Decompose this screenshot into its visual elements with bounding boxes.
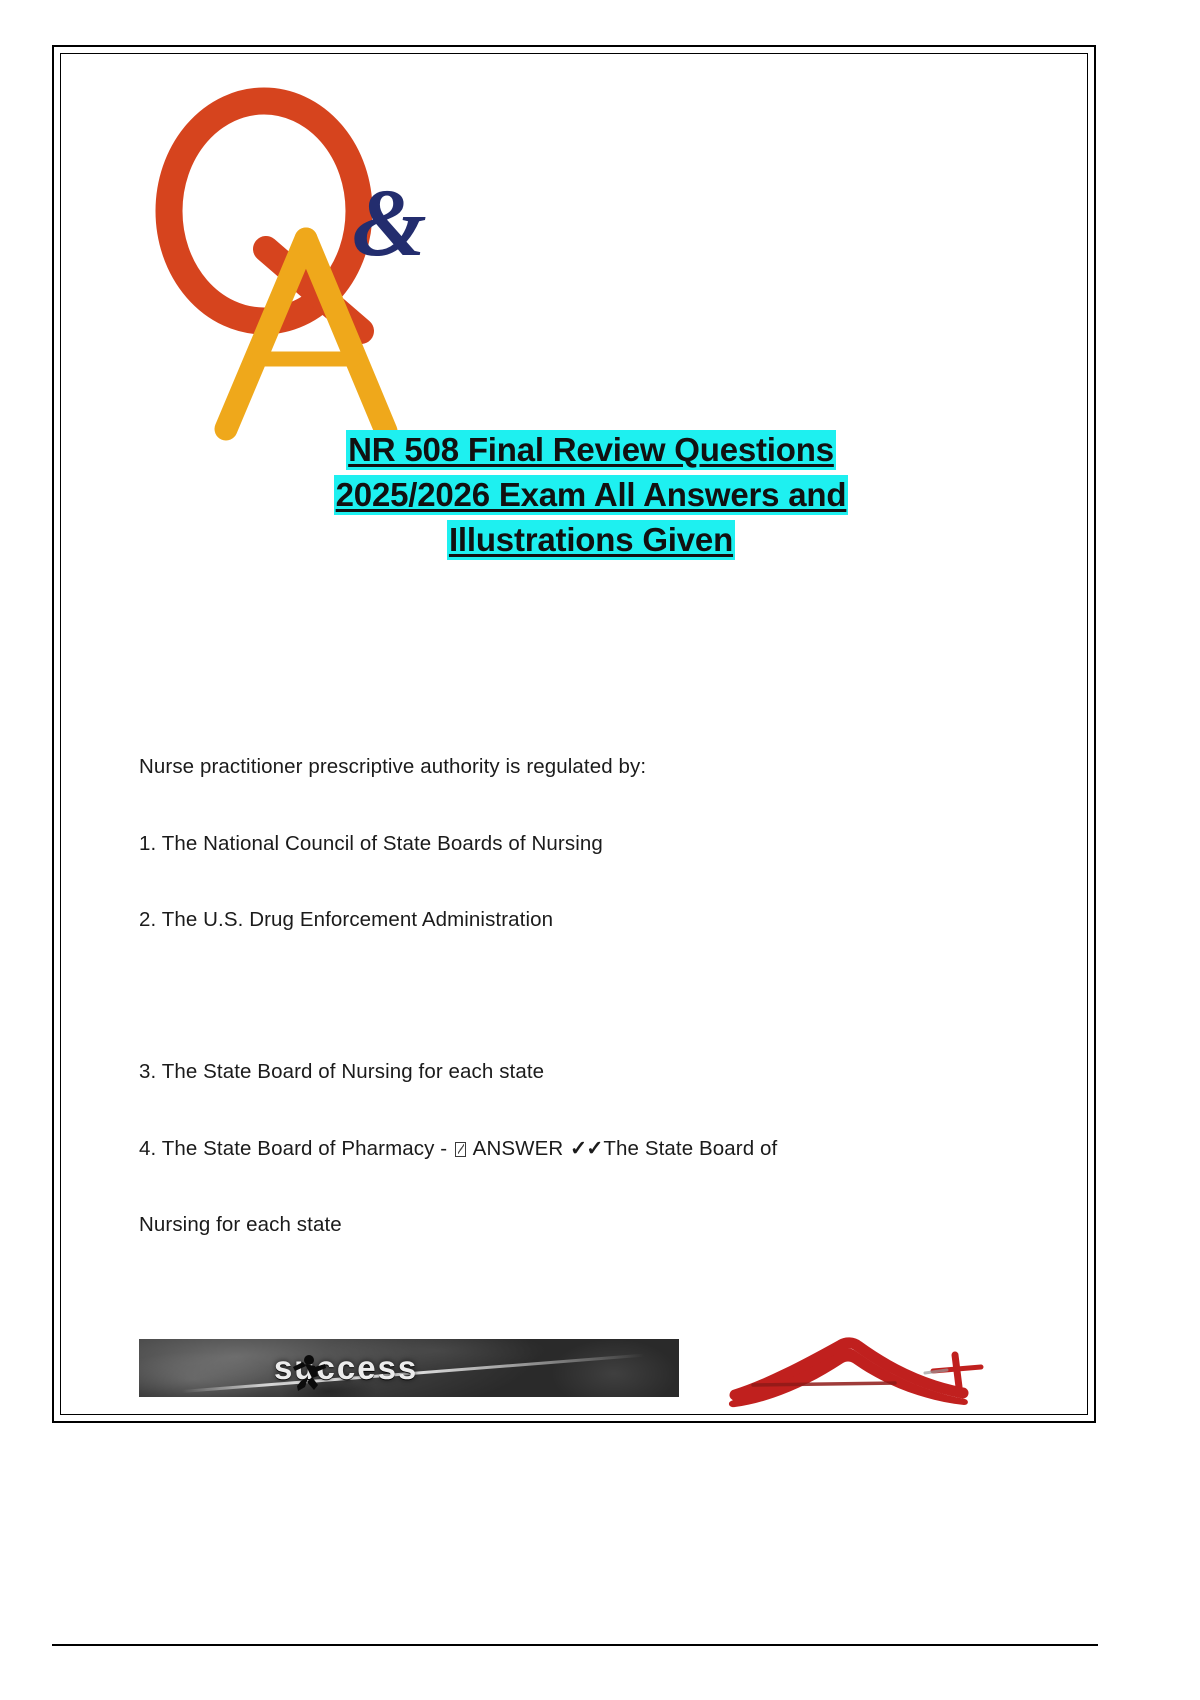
question-body: Nurse practitioner prescriptive authorit… [139, 754, 1019, 1238]
answer-option-4-prefix: 4. The State Board of Pharmacy - [139, 1137, 453, 1160]
answer-text-wrapped: Nursing for each state [139, 1212, 1019, 1238]
q-and-a-logo: & [146, 69, 476, 449]
answer-option-3: 3. The State Board of Nursing for each s… [139, 1059, 1019, 1085]
answer-option-1: 1. The National Council of State Boards … [139, 831, 1019, 857]
answer-option-2: 2. The U.S. Drug Enforcement Administrat… [139, 907, 1019, 933]
document-page-inner-border: & NR 508 Final Review Questions 2025/202… [60, 53, 1088, 1415]
missing-glyph-box-icon [455, 1142, 466, 1157]
svg-text:&: & [352, 169, 427, 276]
document-page: & NR 508 Final Review Questions 2025/202… [52, 45, 1096, 1423]
title-line-2-text: 2025/2026 Exam All Answers and [334, 475, 849, 515]
question-prompt: Nurse practitioner prescriptive authorit… [139, 754, 1019, 780]
footer-images: success [139, 1339, 1019, 1409]
answer-option-4-with-answer: 4. The State Board of Pharmacy - ANSWER … [139, 1136, 1019, 1162]
title-line-3-text: Illustrations Given [447, 520, 735, 560]
success-banner-image: success [139, 1339, 679, 1397]
page-bottom-edge [52, 1644, 1098, 1646]
answer-label: ANSWER [468, 1137, 569, 1160]
title-line-2: 2025/2026 Exam All Answers and [181, 474, 1001, 517]
title-line-1: NR 508 Final Review Questions [181, 429, 1001, 472]
red-a-brushstroke-icon [729, 1343, 968, 1407]
page-title: NR 508 Final Review Questions 2025/2026 … [181, 429, 1001, 564]
answer-text: The State Board of [603, 1137, 777, 1160]
title-line-3: Illustrations Given [181, 519, 1001, 562]
a-plus-grade-mark [719, 1335, 1019, 1409]
logo-ampersand-icon: & [352, 169, 427, 276]
double-checkmark-icon: ✓✓ [569, 1137, 603, 1160]
climber-silhouette-icon [285, 1354, 331, 1394]
title-line-1-text: NR 508 Final Review Questions [346, 430, 836, 470]
